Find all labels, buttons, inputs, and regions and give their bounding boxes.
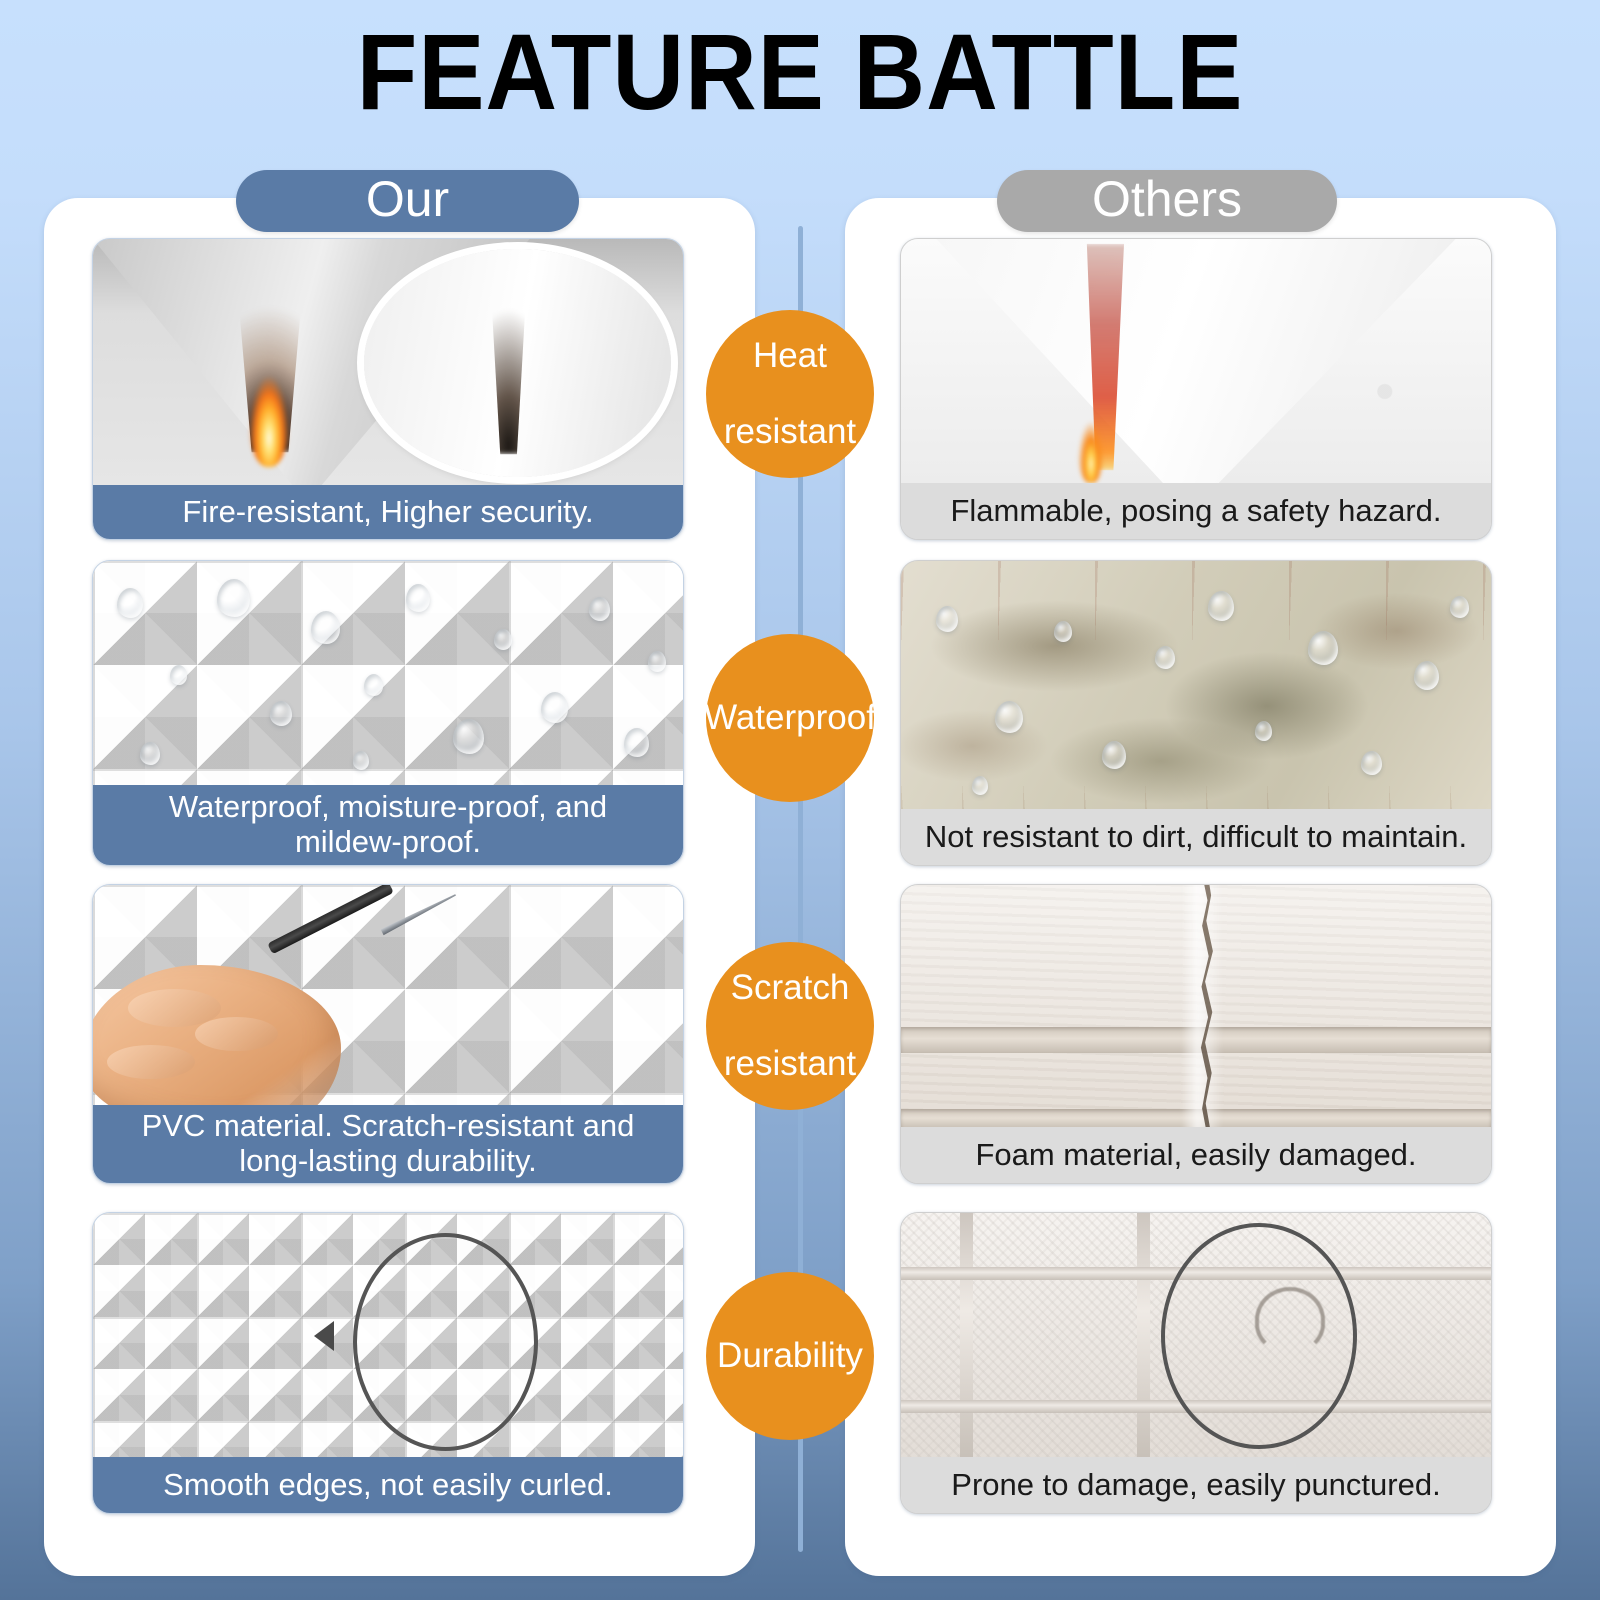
image-our-scratch: [93, 885, 683, 1107]
caption-others-heat: Flammable, posing a safety hazard.: [901, 483, 1491, 539]
caption-our-scratch: PVC material. Scratch-resistant and long…: [93, 1105, 683, 1183]
column-header-our: Our: [236, 170, 579, 232]
column-header-others: Others: [997, 170, 1337, 232]
caption-our-durability: Smooth edges, not easily curled.: [93, 1457, 683, 1513]
column-header-others-label: Others: [1092, 174, 1242, 224]
image-our-durability: [93, 1213, 683, 1459]
image-others-durability: [901, 1213, 1491, 1459]
badge-waterproof: Waterproof: [706, 634, 874, 802]
water-droplets-overlay: [901, 561, 1491, 811]
caption-others-durability: Prone to damage, easily punctured.: [901, 1457, 1491, 1513]
caption-our-heat: Fire-resistant, Higher security.: [93, 485, 683, 539]
caption-our-waterproof: Waterproof, moisture-proof, and mildew-p…: [93, 785, 683, 865]
card-our-waterproof: Waterproof, moisture-proof, and mildew-p…: [92, 560, 684, 866]
pointer-arrow-icon: [314, 1321, 334, 1351]
image-others-scratch: [901, 885, 1491, 1129]
card-others-scratch: Foam material, easily damaged.: [900, 884, 1492, 1184]
column-header-our-label: Our: [366, 174, 449, 224]
caption-others-scratch: Foam material, easily damaged.: [901, 1127, 1491, 1183]
badge-heat-resistant: Heat resistant: [706, 310, 874, 478]
caption-others-waterproof: Not resistant to dirt, difficult to main…: [901, 809, 1491, 865]
badge-durability: Durability: [706, 1272, 874, 1440]
badge-scratch-resistant: Scratch resistant: [706, 942, 874, 1110]
card-our-durability: Smooth edges, not easily curled.: [92, 1212, 684, 1514]
card-others-durability: Prone to damage, easily punctured.: [900, 1212, 1492, 1514]
image-our-waterproof: [93, 561, 683, 787]
card-our-heat: Fire-resistant, Higher security.: [92, 238, 684, 540]
image-others-heat: [901, 239, 1491, 485]
card-our-scratch: PVC material. Scratch-resistant and long…: [92, 884, 684, 1184]
water-droplets-overlay: [93, 561, 683, 787]
image-others-waterproof: [901, 561, 1491, 811]
card-others-heat: Flammable, posing a safety hazard.: [900, 238, 1492, 540]
puncture-mark: [1255, 1287, 1325, 1353]
magnifier-inset: [364, 249, 671, 477]
page-title: FEATURE BATTLE: [64, 18, 1536, 126]
highlight-circle: [353, 1233, 538, 1451]
card-others-waterproof: Not resistant to dirt, difficult to main…: [900, 560, 1492, 866]
image-our-heat: [93, 239, 683, 487]
